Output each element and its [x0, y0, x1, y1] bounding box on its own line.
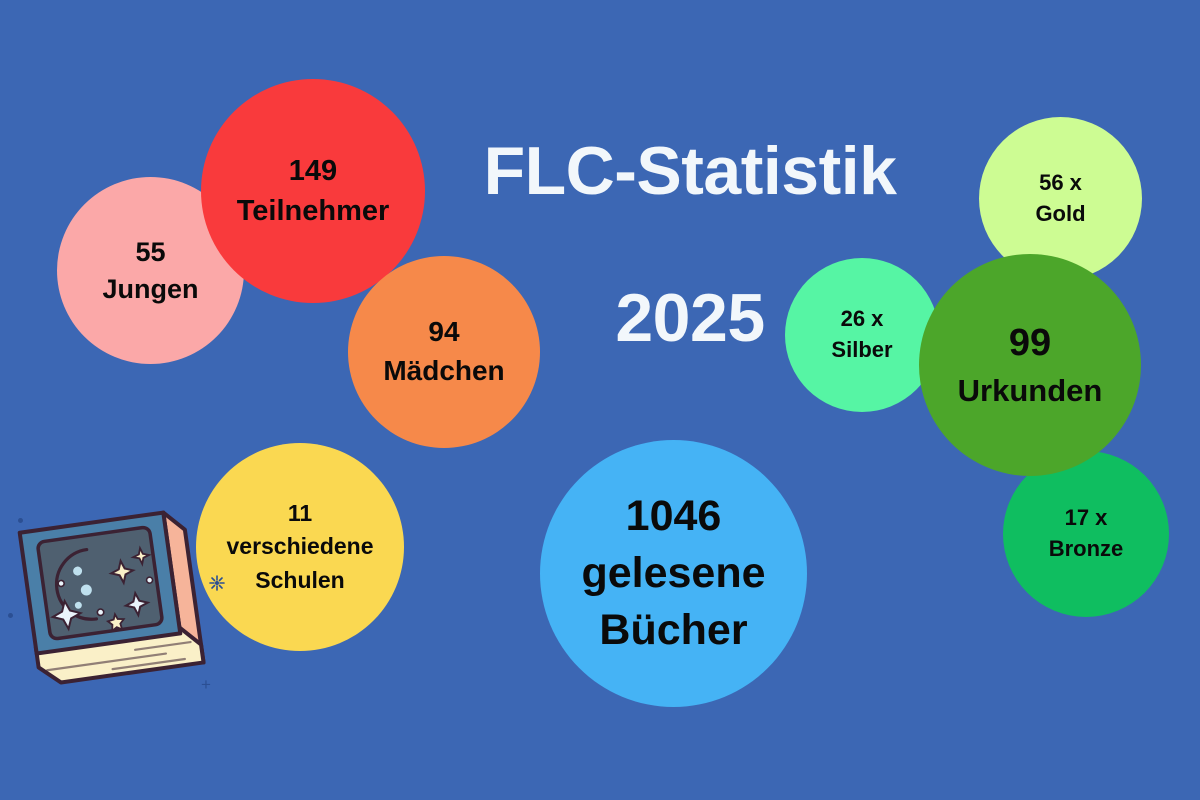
bubble-maedchen: 94 Mädchen: [348, 256, 540, 448]
bubble-urkunden-label: Urkunden: [958, 370, 1103, 413]
sparkle-icon: [206, 572, 228, 594]
bubble-jungen-number: 55: [135, 234, 165, 270]
bubble-buecher-number: 1046: [626, 488, 722, 545]
plus-mark-icon: +: [201, 676, 211, 693]
bubble-maedchen-label: Mädchen: [383, 352, 504, 391]
bubble-gold-label: Gold: [1035, 199, 1085, 230]
poster-canvas: FLC-Statistik 2025: [0, 0, 1200, 800]
bubble-silber-label: Silber: [831, 335, 892, 366]
bubble-maedchen-number: 94: [428, 313, 459, 352]
decorative-dot: [8, 613, 13, 618]
bubble-gold-number: 56 x: [1039, 168, 1082, 199]
bubble-buecher-label: gelesene Bücher: [581, 545, 765, 659]
bubble-silber: 26 x Silber: [785, 258, 939, 412]
bubble-buecher: 1046 gelesene Bücher: [540, 440, 807, 707]
book-illustration: [8, 484, 224, 716]
bubble-silber-number: 26 x: [841, 304, 884, 335]
decorative-dot: [18, 518, 23, 523]
bubble-schulen-label: verschiedene Schulen: [226, 530, 373, 597]
bubble-urkunden-number: 99: [1009, 317, 1051, 369]
bubble-urkunden: 99 Urkunden: [919, 254, 1141, 476]
bubble-teilnehmer: 149 Teilnehmer: [201, 79, 425, 303]
bubble-gold: 56 x Gold: [979, 117, 1142, 280]
bubble-schulen-number: 11: [288, 497, 312, 530]
title-line-1: FLC-Statistik: [430, 135, 950, 208]
bubble-jungen-label: Jungen: [102, 271, 198, 307]
bubble-teilnehmer-number: 149: [289, 151, 337, 191]
bubble-bronze-number: 17 x: [1065, 503, 1108, 534]
bubble-teilnehmer-label: Teilnehmer: [237, 191, 390, 231]
bubble-bronze-label: Bronze: [1049, 534, 1124, 565]
bubble-schulen: 11 verschiedene Schulen: [196, 443, 404, 651]
